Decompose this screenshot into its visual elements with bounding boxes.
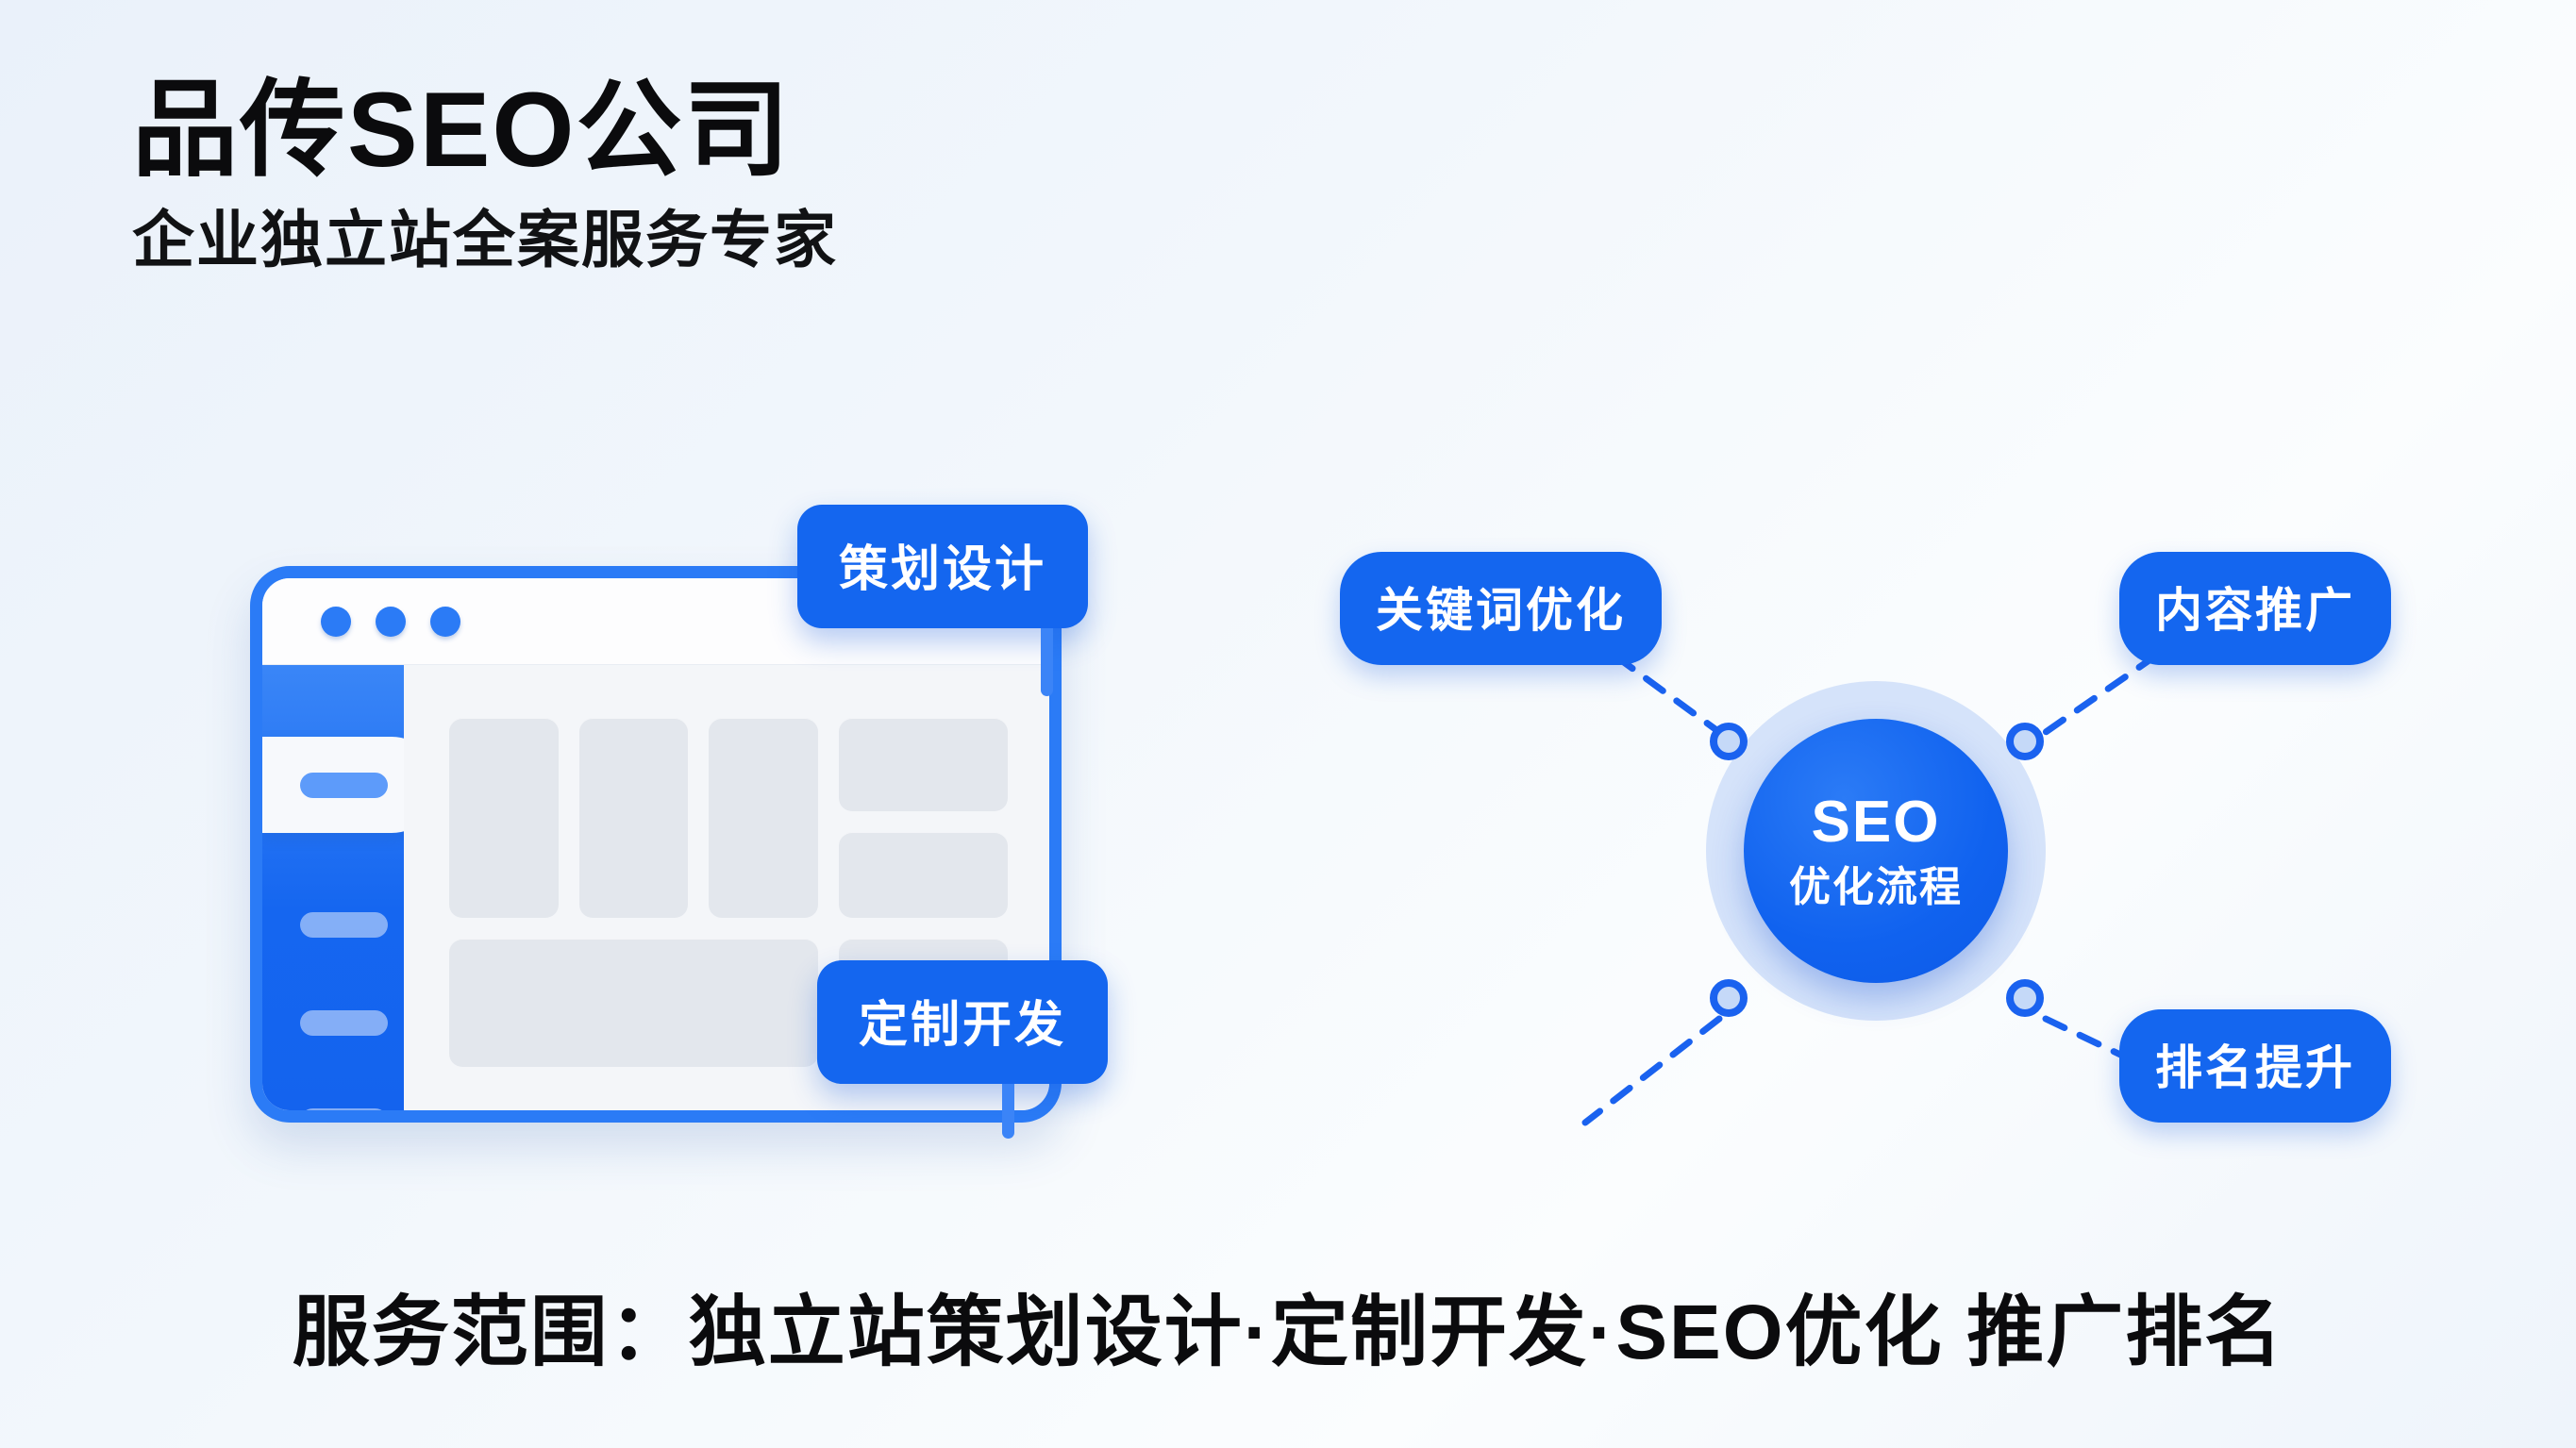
diagram-pill-keyword-optimization[interactable]: 关键词优化	[1340, 552, 1662, 665]
callout-badge-development[interactable]: 定制开发	[817, 960, 1108, 1084]
content-block-column	[709, 718, 818, 918]
center-secondary-label: 优化流程	[1789, 867, 1963, 908]
sidebar-item-bar	[300, 1010, 388, 1036]
content-block-column	[579, 718, 689, 918]
content-block-stack	[839, 718, 1008, 918]
header-block: 品传SEO公司 企业独立站全案服务专家	[132, 74, 838, 276]
sidebar-item-bar	[300, 912, 388, 938]
window-dot-icon	[430, 607, 460, 637]
diagram-pill-ranking-improvement[interactable]: 排名提升	[2119, 1009, 2391, 1123]
sidebar-item-bar	[300, 1108, 388, 1123]
content-block-panel	[839, 718, 1008, 811]
window-dot-icon	[376, 607, 406, 637]
content-block-wide	[449, 939, 818, 1067]
page-subtitle: 企业独立站全案服务专家	[132, 205, 838, 276]
content-block-column	[449, 718, 559, 918]
diagram-node-top-left	[1710, 723, 1748, 760]
diagram-node-bottom-right	[2006, 979, 2044, 1017]
window-dot-icon	[321, 607, 351, 637]
center-primary-label: SEO	[1812, 793, 1941, 852]
seo-process-diagram: SEO 优化流程 关键词优化 内容推广 排名提升	[1444, 509, 2463, 1151]
callout-badge-planning[interactable]: 策划设计	[797, 505, 1088, 628]
diagram-pill-content-promotion[interactable]: 内容推广	[2119, 552, 2391, 665]
diagram-center-circle: SEO 优化流程	[1744, 719, 2008, 983]
browser-sidebar	[262, 665, 404, 1110]
content-block-panel	[839, 832, 1008, 917]
sidebar-item-bar	[300, 773, 388, 798]
connector-line-bottom-left	[1585, 1019, 1719, 1123]
diagram-node-top-right	[2006, 723, 2044, 760]
diagram-node-bottom-left	[1710, 979, 1748, 1017]
page-title: 品传SEO公司	[132, 74, 838, 188]
service-scope-footer: 服务范围：独立站策划设计·定制开发·SEO优化 推广排名	[0, 1269, 2576, 1381]
